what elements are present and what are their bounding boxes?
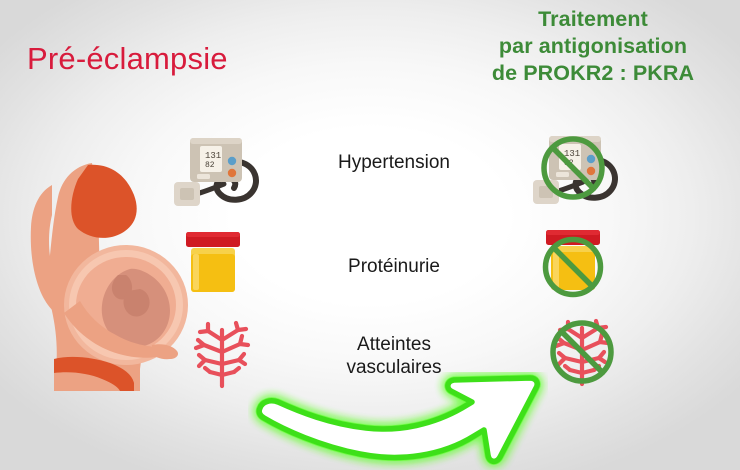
blood-pressure-monitor-icon-left: 131 82 — [172, 132, 264, 216]
svg-text:82: 82 — [564, 159, 574, 168]
urine-sample-cup-icon — [182, 228, 244, 302]
title-right-line-1: Traitement — [462, 6, 724, 33]
bp-systolic-value: 131 — [205, 151, 221, 161]
blood-pressure-monitor-icon: 131 82 — [172, 132, 264, 216]
symptom-label-proteinurie: Protéinurie — [284, 255, 504, 278]
title-right-line-3: de PROKR2 : PKRA — [462, 60, 724, 87]
slide-canvas: Pré-éclampsie Traitement par antigonisat… — [0, 0, 740, 470]
page-title-right: Traitement par antigonisation de PROKR2 … — [462, 6, 724, 87]
bp-diastolic-value: 82 — [205, 161, 215, 170]
blood-pressure-monitor-icon-right-blocked: 131 82 — [531, 130, 623, 214]
blood-vessel-tree-icon-right-blocked — [546, 316, 618, 388]
title-right-line-2: par antigonisation — [462, 33, 724, 60]
urine-sample-cup-icon-right-blocked — [542, 226, 604, 300]
urine-sample-cup-icon-left — [182, 228, 244, 302]
urine-sample-cup-icon — [542, 226, 604, 300]
symptom-label-vasculaires-line1: Atteintes — [284, 333, 504, 356]
blood-vessel-tree-icon — [546, 316, 618, 388]
page-title-left: Pré-éclampsie — [27, 41, 228, 77]
svg-text:131: 131 — [564, 149, 580, 159]
curved-arrow-up-right-icon — [248, 372, 548, 470]
symptom-label-hypertension: Hypertension — [284, 151, 504, 174]
blood-pressure-monitor-icon: 131 82 — [531, 130, 623, 214]
